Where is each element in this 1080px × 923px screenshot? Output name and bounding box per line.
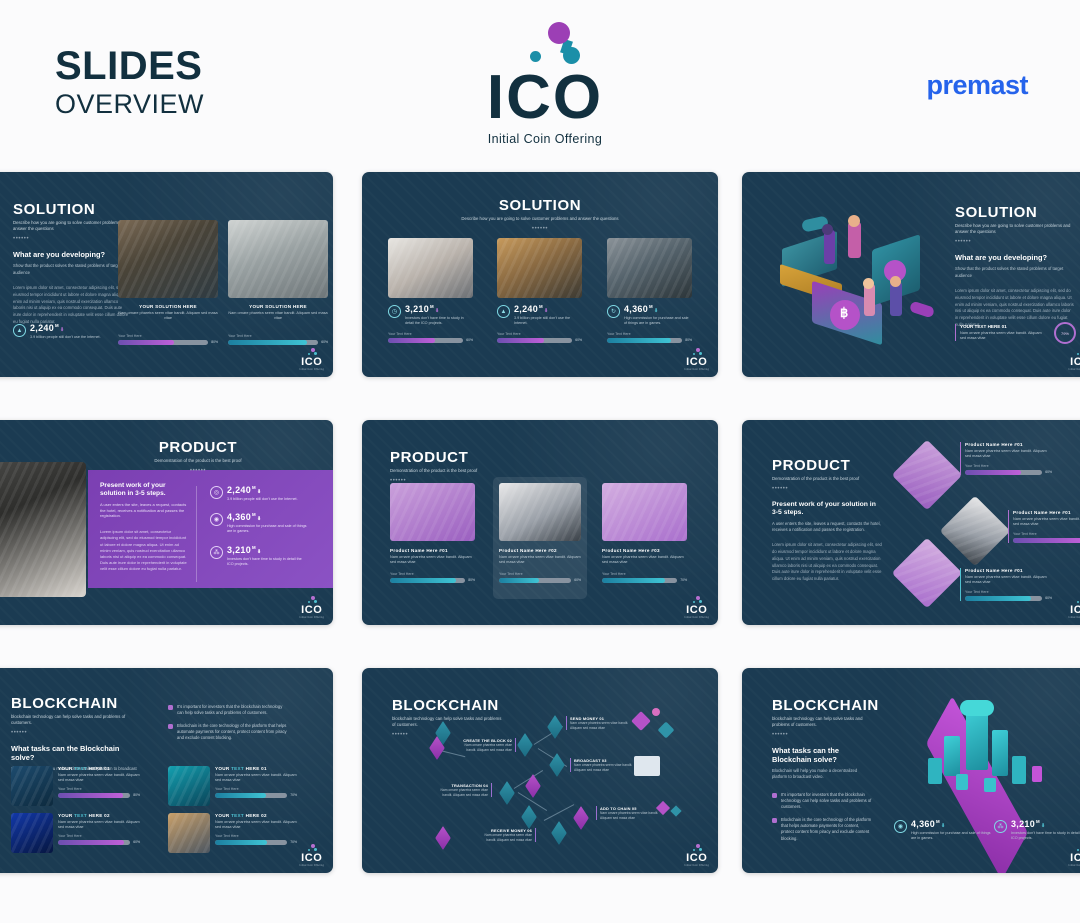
slide5-progress-2[interactable] <box>499 578 571 583</box>
slide9-dots: •••••• <box>772 732 872 738</box>
slide1-question: What are you developing? <box>13 251 131 260</box>
slide5-title: PRODUCT <box>390 450 520 465</box>
slide1-question-sub: Show that the product solves the stated … <box>13 263 131 276</box>
slide4-stat-1: ◎ 2,240M⬇ 3.9 billion people still don't… <box>210 486 310 502</box>
slide1-prog-label-2: Your Text Here <box>228 334 328 338</box>
slide6-pct-1: 60% <box>1045 470 1052 474</box>
slide8-people-icons <box>658 803 668 813</box>
ico-logo: ICO Initial Coin Offering <box>470 18 620 146</box>
slide8-node-cube-11 <box>435 826 451 850</box>
slide6-lorem: Lorem ipsum dolor sit amet, consectetur … <box>772 542 882 583</box>
slide6-image-3 <box>892 538 963 609</box>
slide8-title: BLOCKCHAIN <box>392 698 502 713</box>
stat-circle-icon: ◷ <box>388 305 401 318</box>
footer-ico-sub: Initial Coin Offering <box>300 864 325 867</box>
slide6-dots: •••••• <box>772 486 882 492</box>
slide2-card-1[interactable]: ◷ 3,210M⬇ Investors don't have time to s… <box>388 238 473 343</box>
slide2-progress-1[interactable] <box>388 338 463 343</box>
slide6-card-1[interactable]: Product Name Here #01 Nam ornare pharetr… <box>960 442 1052 475</box>
slide6-steps-title: Present work of your solution in 3-5 ste… <box>772 501 882 517</box>
slide3-isometric-illustration: ฿ <box>772 212 942 342</box>
slide8-laptop-icon <box>634 756 660 776</box>
slide5-card-3[interactable]: Product Name Here #03 Nam ornare pharetr… <box>602 483 687 583</box>
slide8-label-create-block: CREATE THE BLOCK 02 Nam ornare pharetra … <box>458 738 516 752</box>
slide9-desc-2: Investors don't have time to study in de… <box>1011 831 1080 841</box>
slide6-body-2: Nam ornare pharetra seem vitae bandit. A… <box>1013 517 1080 528</box>
slide-thumbnail-7-blockchain-list[interactable]: BLOCKCHAIN blockchain technology can hel… <box>0 668 333 873</box>
slide2-progress-3[interactable] <box>607 338 682 343</box>
footer-ico-word: ICO <box>685 605 710 616</box>
slide5-progress-1[interactable] <box>390 578 465 583</box>
slide2-prog-label-2: Your Text Here <box>497 332 582 336</box>
slide3-ico-footer: ICO Initial Coin Offering <box>1069 348 1080 371</box>
slide8-node-cube-8 <box>551 821 567 845</box>
stat-circle-icon: ▲ <box>497 305 510 318</box>
slide7-body-2: Nam ornare pharetra seem vitae bandit. A… <box>58 820 140 831</box>
premast-brand-logo: premast <box>926 70 1028 101</box>
slide5-pct-3: 70% <box>680 578 687 582</box>
slide3-question: What are you developing? <box>955 254 1075 263</box>
slide4-subtitle: Demonstration of the product is the best… <box>118 458 278 464</box>
slide1-pct-2: 60% <box>321 340 328 344</box>
slide5-subtitle: Demonstration of the product is the best… <box>390 468 520 474</box>
slide6-subtitle: Demonstration of the product is the best… <box>772 476 882 482</box>
slide1-subtitle: Describe how you are going to solve cust… <box>13 220 131 232</box>
slide-thumbnail-9-blockchain-city[interactable]: BLOCKCHAIN blockchain technology can hel… <box>742 668 1080 873</box>
footer-ico-sub: Initial Coin Offering <box>685 864 710 867</box>
slide7-title: BLOCKCHAIN <box>11 696 141 711</box>
stat-circle-icon: ◉ <box>894 820 907 833</box>
slide7-body-1: Nam ornare pharetra seem vitae bandit. A… <box>58 773 140 784</box>
slide6-name-1: Product Name Here #01 <box>965 442 1052 447</box>
slide9-question-sub: Blockchain will help you make a decentra… <box>772 768 872 781</box>
slide2-card-2[interactable]: ▲ 2,240M⬇ 3.9 billion people still don't… <box>497 238 582 343</box>
slide6-progress-3[interactable] <box>965 596 1042 601</box>
page-header: SLIDES OVERVIEW ICO Initial Coin Offerin… <box>0 0 1080 172</box>
slide8-node-cube-4 <box>525 774 541 798</box>
slide1-ico-footer: ICO Initial Coin Offering <box>300 348 325 371</box>
slide4-desc-3: Investors don't have time to study in de… <box>227 557 307 567</box>
ico-molecule-icon <box>470 18 620 73</box>
slide9-desc-1: High commission for purchase and sale of… <box>911 831 991 841</box>
slide1-caption-body-2: Nam ornare pharetra seem vitae bandit. A… <box>228 311 328 322</box>
slide2-pct-1: 60% <box>466 338 473 342</box>
slide2-desc-3: High commission for purchase and sale of… <box>624 316 692 326</box>
slide5-body-1: Nam ornare pharetra seem vitae bandit. A… <box>390 555 475 566</box>
slide8-node-cube-7 <box>573 806 589 830</box>
stat-circle-icon: ⁂ <box>994 820 1007 833</box>
slide4-steps-body: A user enters the site, leaves a request… <box>100 502 188 519</box>
slide8-node-cube-1 <box>547 715 563 739</box>
slide8-label-add-to-chain: ADD TO CHAIN 05 Nam ornare pharetra seem… <box>596 806 664 820</box>
slide9-isometric-city <box>892 700 1072 820</box>
slide6-title: PRODUCT <box>772 458 882 473</box>
footer-ico-word: ICO <box>1069 605 1080 616</box>
bullet-square-icon <box>772 793 777 798</box>
slide2-pct-3: 80% <box>685 338 692 342</box>
slide6-body-3: Nam ornare pharetra seem vitae bandit. A… <box>965 575 1052 586</box>
slide6-progress-1[interactable] <box>965 470 1042 475</box>
footer-ico-word: ICO <box>1069 357 1080 368</box>
slide6-prog-label-2: Your Text Here <box>1013 532 1080 536</box>
slide1-title: SOLUTION <box>13 202 131 217</box>
footer-ico-sub: Initial Coin Offering <box>300 616 325 619</box>
bullet-square-icon <box>168 724 173 729</box>
slide5-card-2[interactable]: Product Name Here #02 Nam ornare pharetr… <box>493 477 587 599</box>
slide3-lorem: Lorem ipsum dolor sit amet, consectetur … <box>955 288 1075 329</box>
footer-ico-sub: Initial Coin Offering <box>1069 368 1080 371</box>
slide6-steps-body: A user enters the site, leaves a request… <box>772 521 882 534</box>
slide3-title: SOLUTION <box>955 205 1075 220</box>
slide3-percent-badge: 79% <box>1054 322 1076 344</box>
slide4-stat-2: ◉ 4,360M⬇ High commission for purchase a… <box>210 513 310 534</box>
slide1-stat-number: 2,240M⬇ <box>30 324 101 333</box>
slide6-image-1 <box>892 440 963 511</box>
slide1-caption-1: YOUR SOLUTION HERE <box>118 304 218 309</box>
slide8-node-cube-2 <box>517 733 533 757</box>
slide1-dots: •••••• <box>13 236 131 242</box>
footer-ico-word: ICO <box>300 605 325 616</box>
slide3-callout-title: YOUR TEXT HERE 01 <box>960 324 1045 329</box>
slide7-item-3[interactable]: YOUR TEXT HERE 01 Nam ornare pharetra se… <box>168 766 297 806</box>
footer-ico-word: ICO <box>1069 853 1080 864</box>
slide3-dots: •••••• <box>955 239 1075 245</box>
stat-circle-icon: ↻ <box>607 305 620 318</box>
slide6-prog-label-1: Your Text Here <box>965 464 1052 468</box>
slide2-pct-2: 60% <box>575 338 582 342</box>
stat-circle-icon: ▲ <box>13 324 26 337</box>
slide-thumbnail-6-product-diamonds[interactable]: PRODUCT Demonstration of the product is … <box>742 420 1080 625</box>
slide4-image <box>0 462 86 597</box>
slide6-body-1: Nam ornare pharetra seem vitae bandit. A… <box>965 449 1052 460</box>
slide9-ico-footer: ICO Initial Coin Offering <box>1069 844 1080 867</box>
slide3-question-sub: Show that the product solves the stated … <box>955 266 1075 279</box>
slide9-question: What tasks can the Blockchain solve? <box>772 747 872 765</box>
slide-thumbnail-3-solution-isometric[interactable]: ฿ SOLUTION Describe how you are going to… <box>742 172 1080 377</box>
slide5-ico-footer: ICO Initial Coin Offering <box>685 596 710 619</box>
footer-ico-word: ICO <box>300 357 325 368</box>
footer-ico-sub: Initial Coin Offering <box>300 368 325 371</box>
slide8-label-send-money: SEND MONEY 01 Nam ornare pharetra seem v… <box>566 716 634 730</box>
ico-logo-tagline: Initial Coin Offering <box>470 132 620 146</box>
slide7-progress-1[interactable] <box>58 793 130 798</box>
stat-circle-icon: ⁂ <box>210 546 223 559</box>
slide4-steps-title: Present work of your solution in 3-5 ste… <box>100 482 188 499</box>
slide9-bullet-1: It's important for investors that the bl… <box>772 792 872 811</box>
slide6-pct-3: 60% <box>1045 596 1052 600</box>
slide5-card-1[interactable]: Product Name Here #01 Nam ornare pharetr… <box>390 483 475 583</box>
slide5-name-2: Product Name Here #02 <box>499 548 581 553</box>
slide2-prog-label-1: Your Text Here <box>388 332 473 336</box>
slide2-card-3[interactable]: ↻ 4,360M⬇ High commission for purchase a… <box>607 238 692 343</box>
slide2-title: SOLUTION <box>362 198 718 213</box>
slide7-item-4[interactable]: YOUR TEXT HERE 02 Nam ornare pharetra se… <box>168 813 297 853</box>
slide7-progress-2[interactable] <box>58 840 130 845</box>
slide8-label-transaction: TRANSACTION 04 Nam ornare pharetra seem … <box>432 783 492 797</box>
slide-thumbnail-5-product-cards[interactable]: PRODUCT Demonstration of the product is … <box>362 420 718 625</box>
slide2-subtitle: Describe how you are going to solve cust… <box>460 216 620 222</box>
slide6-name-2: Product Name Here #01 <box>1013 510 1080 515</box>
slide2-prog-label-3: Your Text Here <box>607 332 692 336</box>
slide7-subtitle: blockchain technology can help solve tas… <box>11 714 141 726</box>
slide7-body-4: Nam ornare pharetra seem vitae bandit. A… <box>215 820 297 831</box>
slide5-progress-3[interactable] <box>602 578 677 583</box>
slide1-pct-1: 80% <box>211 340 218 344</box>
slide1-progress-1[interactable] <box>118 340 208 345</box>
footer-ico-word: ICO <box>685 853 710 864</box>
bullet-square-icon <box>772 818 777 823</box>
slide7-body-3: Nam ornare pharetra seem vitae bandit. A… <box>215 773 297 784</box>
slide7-progress-3[interactable] <box>215 793 287 798</box>
slide4-ico-footer: ICO Initial Coin Offering <box>300 596 325 619</box>
slide8-node-cube-5 <box>499 781 515 805</box>
slide5-body-2: Nam ornare pharetra seem vitae bandit. A… <box>499 555 581 566</box>
slide1-stat-desc: 3.9 billion people still don't use the I… <box>30 335 101 340</box>
slide6-ico-footer: ICO Initial Coin Offering <box>1069 596 1080 619</box>
page-title: SLIDES OVERVIEW <box>55 45 204 122</box>
slide6-card-3[interactable]: Product Name Here #01 Nam ornare pharetr… <box>960 568 1052 601</box>
footer-ico-sub: Initial Coin Offering <box>1069 864 1080 867</box>
slide6-card-2[interactable]: Product Name Here #01 Nam ornare pharetr… <box>1008 510 1080 543</box>
slide7-item-2[interactable]: YOUR TEXT HERE 02 Nam ornare pharetra se… <box>11 813 140 853</box>
slide6-image-2 <box>940 496 1011 567</box>
slide7-dots: •••••• <box>11 730 141 736</box>
slide3-subtitle: Describe how you are going to solve cust… <box>955 223 1075 235</box>
slide5-pct-2: 60% <box>574 578 581 582</box>
slide1-prog-label-1: Your Text Here <box>118 334 218 338</box>
slide5-prog-label-1: Your Text Here <box>390 572 475 576</box>
slide8-coin-icons <box>634 714 648 728</box>
slide4-stat-3: ⁂ 3,210M⬇ Investors don't have time to s… <box>210 546 310 567</box>
slide2-ico-footer: ICO Initial Coin Offering <box>685 348 710 371</box>
slide2-desc-2: 3.9 billion people still don't use the I… <box>514 316 582 326</box>
slide5-prog-label-3: Your Text Here <box>602 572 687 576</box>
slide6-progress-2[interactable] <box>1013 538 1080 543</box>
slide-thumbnail-4-product-panel[interactable]: PRODUCT Demonstration of the product is … <box>0 420 333 625</box>
slide5-name-3: Product Name Here #03 <box>602 548 687 553</box>
slides-grid: SOLUTION Describe how you are going to s… <box>0 172 1080 892</box>
slide1-stat: ▲ 2,240M⬇ 3.9 billion people still don't… <box>13 324 101 340</box>
slide9-bullet-2: Blockchain is the core technology of the… <box>772 817 872 842</box>
slide4-dots: •••••• <box>98 468 298 474</box>
slide1-image-1 <box>118 220 218 298</box>
ico-logo-word: ICO <box>470 69 620 128</box>
slide7-bullet-2: Blockchain is the core technology of the… <box>168 723 288 742</box>
slide1-progress-2[interactable] <box>228 340 318 345</box>
slide2-dots: •••••• <box>362 226 718 232</box>
slide7-progress-4[interactable] <box>215 840 287 845</box>
slide7-item-1[interactable]: YOUR TEXT HERE 01 Nam ornare pharetra se… <box>11 766 140 806</box>
footer-ico-word: ICO <box>685 357 710 368</box>
slide9-title: BLOCKCHAIN <box>772 698 872 713</box>
slide-thumbnail-8-blockchain-flow[interactable]: BLOCKCHAIN blockchain technology can hel… <box>362 668 718 873</box>
slide4-title: PRODUCT <box>98 440 298 455</box>
slide1-caption-body-1: Nam ornare pharetra seem vitae bandit. A… <box>118 311 218 322</box>
slide1-image-2 <box>228 220 328 298</box>
slide6-prog-label-3: Your Text Here <box>965 590 1052 594</box>
slide4-lorem: Lorem ipsum dolor sit amet, consectetur … <box>100 529 188 572</box>
footer-ico-sub: Initial Coin Offering <box>685 616 710 619</box>
slide5-body-3: Nam ornare pharetra seem vitae bandit. A… <box>602 555 687 566</box>
slide-thumbnail-2-solution-cards[interactable]: SOLUTION Describe how you are going to s… <box>362 172 718 377</box>
slide2-desc-1: Investors don't have time to study in de… <box>405 316 473 326</box>
slide5-name-1: Product Name Here #01 <box>390 548 475 553</box>
bullet-square-icon <box>168 705 173 710</box>
footer-ico-word: ICO <box>300 853 325 864</box>
slide8-node-cube-6 <box>521 805 537 829</box>
slide7-bullet-1: It's important for investors that the bl… <box>168 704 288 717</box>
footer-ico-sub: Initial Coin Offering <box>1069 616 1080 619</box>
slide1-lorem: Lorem ipsum dolor sit amet, consectetur … <box>13 285 131 326</box>
slide2-progress-2[interactable] <box>497 338 572 343</box>
slide7-question: What tasks can the Blockchain solve? <box>11 745 141 763</box>
slide3-callout-body: Nam ornare pharetra seem vitae bandit. A… <box>960 331 1045 342</box>
stat-circle-icon: ◎ <box>210 486 223 499</box>
slide8-label-broadcast: BROADCAST 03 Nam ornare pharetra seem vi… <box>570 758 638 772</box>
slide7-ico-footer: ICO Initial Coin Offering <box>300 844 325 867</box>
slide9-stat-1: ◉ 4,360M⬇ High commission for purchase a… <box>894 820 991 841</box>
slide8-label-receive-money: RECEIVE MONEY 06 Nam ornare pharetra see… <box>474 828 536 842</box>
slide1-caption-2: YOUR SOLUTION HERE <box>228 304 328 309</box>
slide4-desc-1: 3.9 billion people still don't use the I… <box>227 497 298 502</box>
slide4-desc-2: High commission for purchase and sale of… <box>227 524 307 534</box>
footer-ico-sub: Initial Coin Offering <box>685 368 710 371</box>
slide8-ico-footer: ICO Initial Coin Offering <box>685 844 710 867</box>
stat-circle-icon: ◉ <box>210 513 223 526</box>
title-overview: OVERVIEW <box>55 88 204 122</box>
slide-thumbnail-1-solution[interactable]: SOLUTION Describe how you are going to s… <box>0 172 333 377</box>
title-slides: SLIDES <box>55 45 204 88</box>
slide6-name-3: Product Name Here #01 <box>965 568 1052 573</box>
slide9-subtitle: blockchain technology can help solve tas… <box>772 716 872 728</box>
slide9-stat-2: ⁂ 3,210M⬇ Investors don't have time to s… <box>994 820 1080 841</box>
slide5-prog-label-2: Your Text Here <box>499 572 581 576</box>
slide5-pct-1: 80% <box>468 578 475 582</box>
